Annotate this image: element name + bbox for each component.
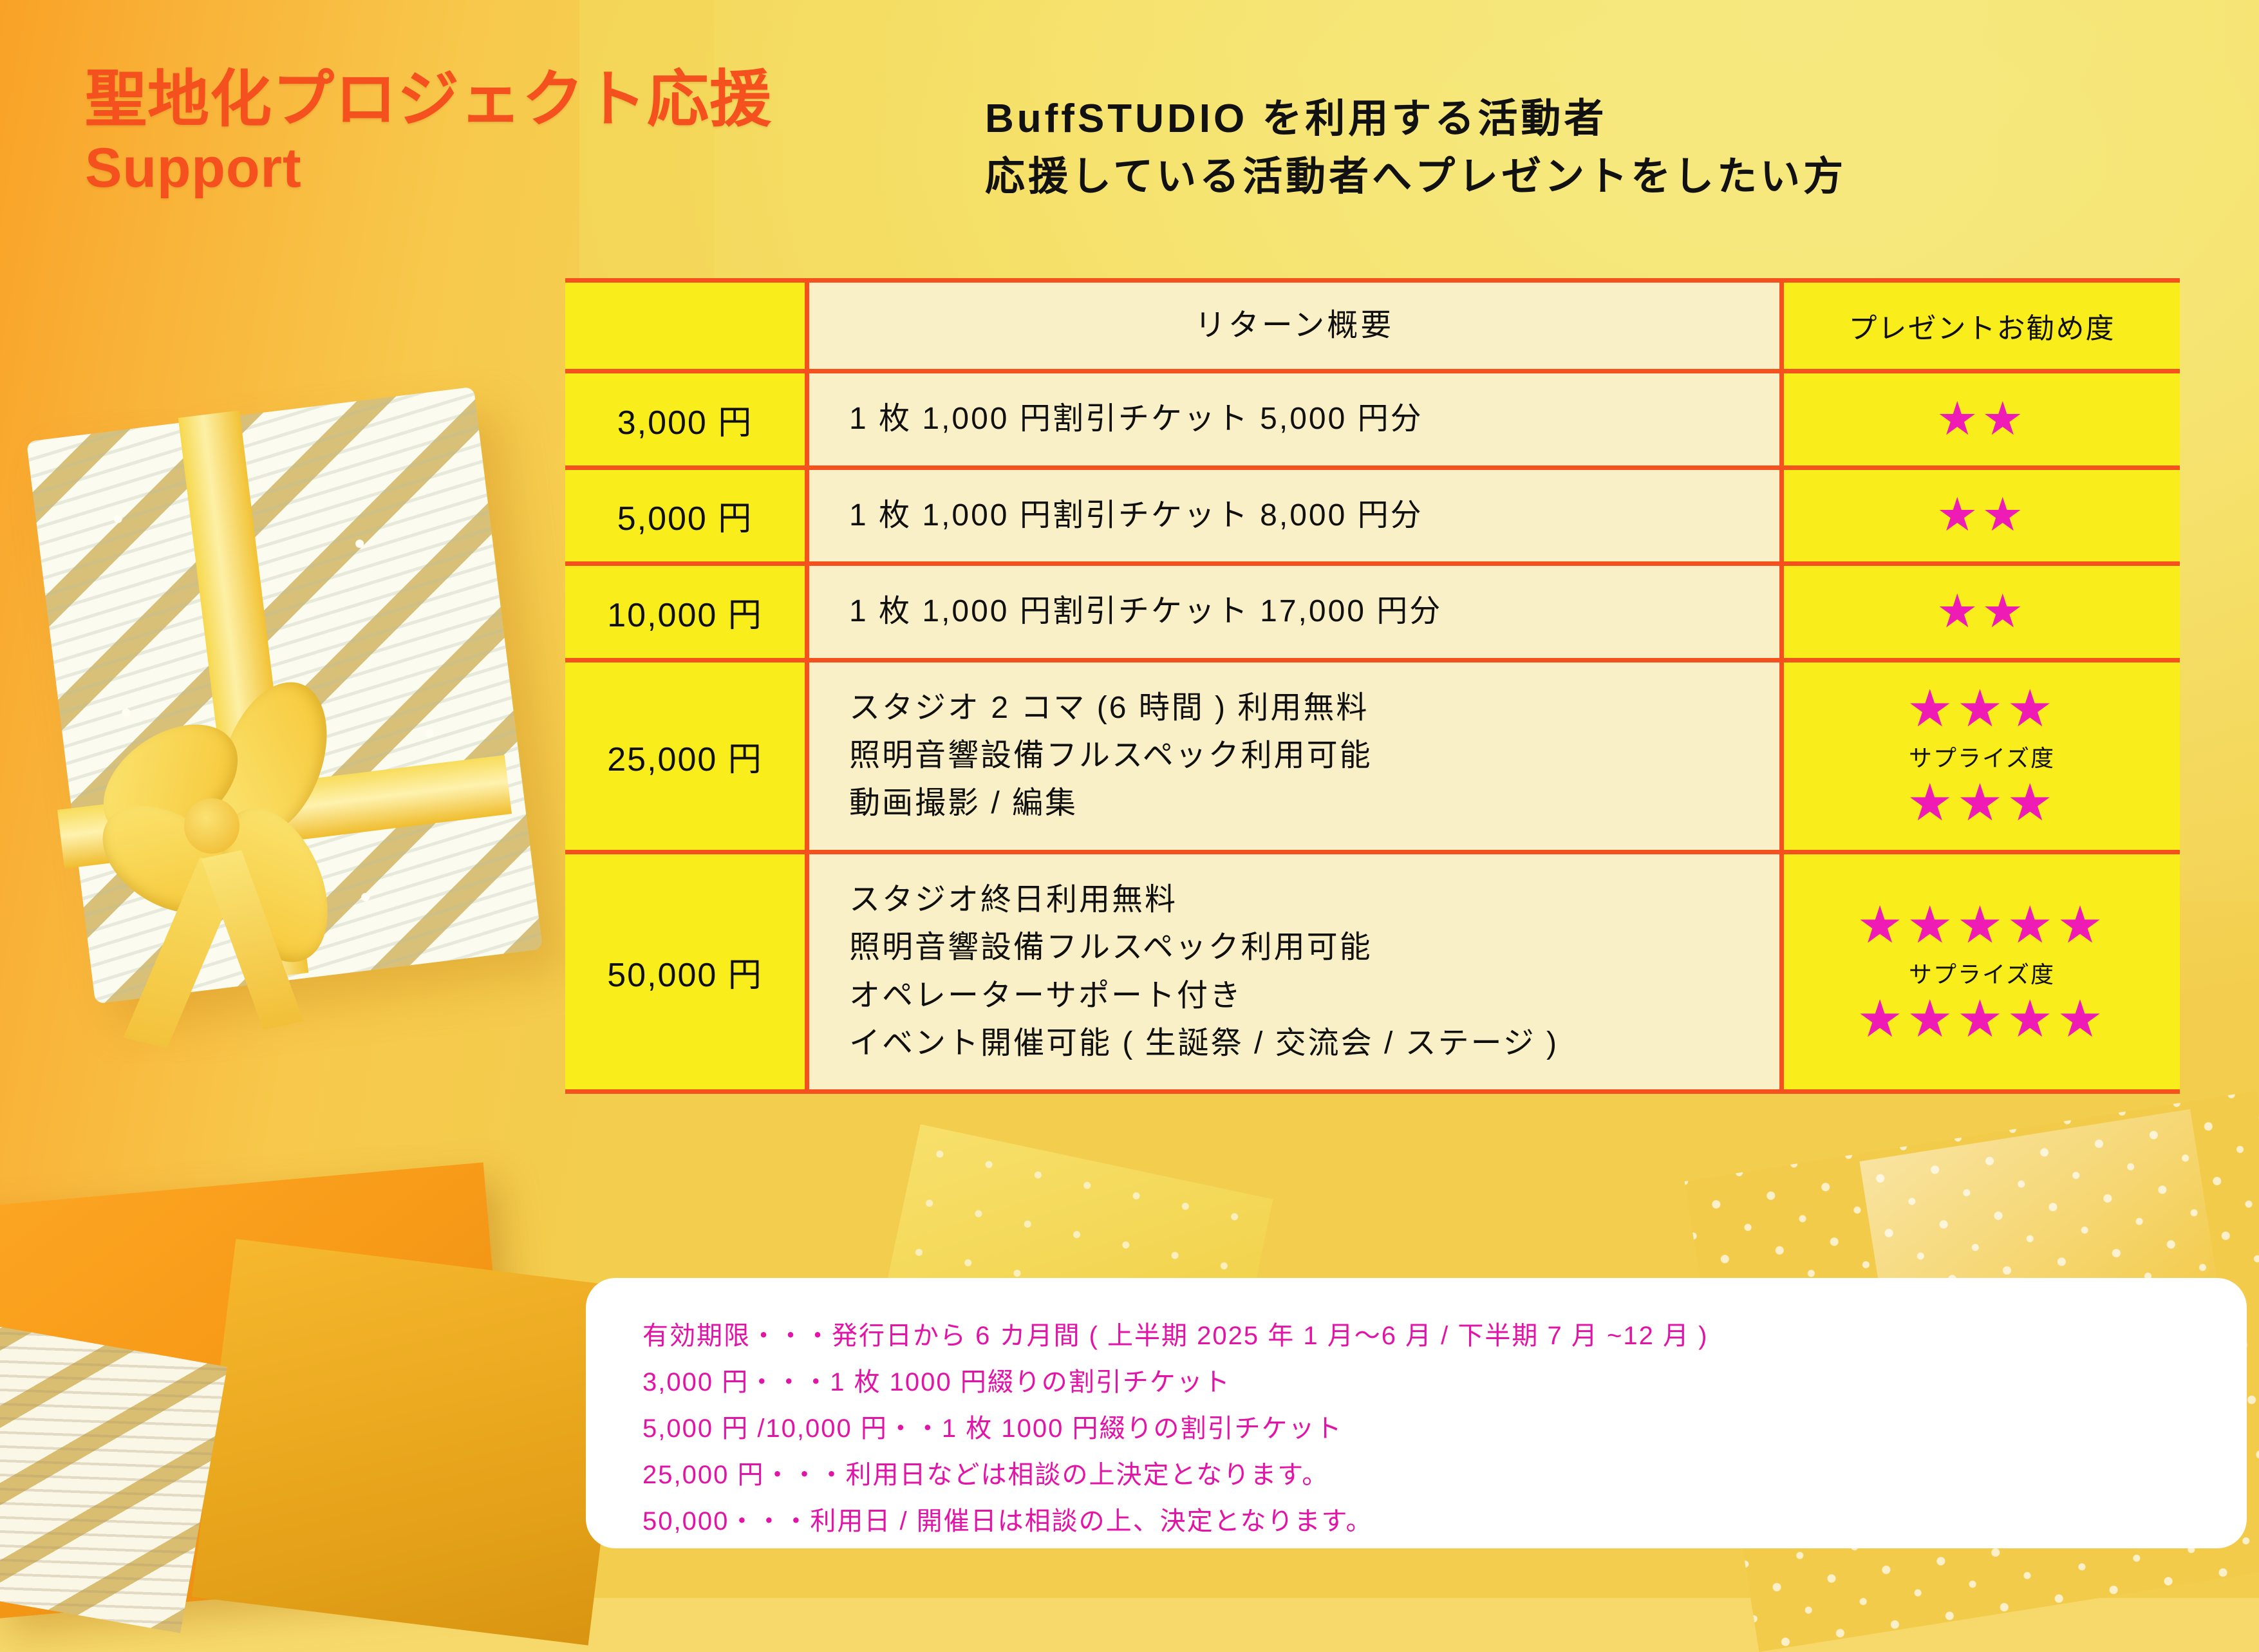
page-subtitle: BuffSTUDIO を利用する活動者 応援している活動者へプレゼントをしたい方: [985, 90, 2208, 206]
note-line: 5,000 円 /10,000 円・・1 枚 1000 円綴りの割引チケット: [642, 1405, 2247, 1452]
row-description: 1 枚 1,000 円割引チケット 5,000 円分: [805, 373, 1784, 465]
note-line: 50,000・・・利用日 / 開催日は相談の上、決定となります。: [642, 1498, 2247, 1544]
star-rating-top: ★★★: [1907, 682, 2057, 736]
description-line: 1 枚 1,000 円割引チケット 5,000 円分: [849, 395, 1423, 443]
row-recommendation: ★★: [1784, 470, 2180, 561]
page-subtitle-line2: 応援している活動者へプレゼントをしたい方: [985, 148, 2208, 206]
star-rating-top: ★★: [1936, 395, 2027, 444]
row-price: 25,000 円: [565, 662, 805, 850]
table-row: 3,000 円 1 枚 1,000 円割引チケット 5,000 円分 ★★: [565, 373, 2180, 469]
page-subtitle-line1: BuffSTUDIO を利用する活動者: [985, 90, 2208, 148]
row-description: スタジオ終日利用無料 照明音響設備フルスペック利用可能 オペレーターサポート付き…: [805, 854, 1784, 1090]
notes-panel: 有効期限・・・発行日から 6 カ月間 ( 上半期 2025 年 1 月～6 月 …: [586, 1278, 2247, 1548]
description-line: 照明音響設備フルスペック利用可能: [849, 924, 1559, 971]
table-row: 25,000 円 スタジオ 2 コマ (6 時間 ) 利用無料 照明音響設備フル…: [565, 662, 2180, 854]
surprise-level-label: サプライズ度: [1909, 956, 2055, 990]
table-row: 10,000 円 1 枚 1,000 円割引チケット 17,000 円分 ★★: [565, 566, 2180, 662]
description-line: 動画撮影 / 編集: [849, 780, 1373, 827]
row-recommendation: ★★: [1784, 566, 2180, 657]
note-line: 25,000 円・・・利用日などは相談の上決定となります。: [642, 1452, 2247, 1498]
row-price: 5,000 円: [565, 470, 805, 561]
star-rating-bottom: ★★★★★: [1857, 992, 2107, 1046]
header-recommendation-cell: プレゼントお勧め度: [1784, 283, 2180, 369]
star-rating-bottom: ★★★: [1907, 776, 2057, 830]
row-description: 1 枚 1,000 円割引チケット 8,000 円分: [805, 470, 1784, 561]
description-line: オペレーターサポート付き: [849, 972, 1559, 1020]
table-row: 50,000 円 スタジオ終日利用無料 照明音響設備フルスペック利用可能 オペレ…: [565, 854, 2180, 1090]
description-line: 照明音響設備フルスペック利用可能: [849, 732, 1373, 780]
row-description: スタジオ 2 コマ (6 時間 ) 利用無料 照明音響設備フルスペック利用可能 …: [805, 662, 1784, 850]
row-recommendation: ★★: [1784, 373, 2180, 465]
support-tiers-table: リターン概要 プレゼントお勧め度 3,000 円 1 枚 1,000 円割引チケ…: [565, 278, 2180, 1094]
row-description: 1 枚 1,000 円割引チケット 17,000 円分: [805, 566, 1784, 657]
description-line: スタジオ 2 コマ (6 時間 ) 利用無料: [849, 684, 1373, 732]
page-title-line1: 聖地化プロジェクト応援: [85, 65, 772, 134]
description-line: イベント開催可能 ( 生誕祭 / 交流会 / ステージ ): [849, 1020, 1559, 1067]
description-line: 1 枚 1,000 円割引チケット 17,000 円分: [849, 588, 1442, 635]
note-line: 有効期限・・・発行日から 6 カ月間 ( 上半期 2025 年 1 月～6 月 …: [642, 1313, 2247, 1359]
description-line: スタジオ終日利用無料: [849, 876, 1559, 924]
row-price: 3,000 円: [565, 373, 805, 465]
star-rating-top: ★★★★★: [1857, 898, 2107, 952]
page-title: 聖地化プロジェクト応援 Support: [85, 63, 935, 202]
table-row: 5,000 円 1 枚 1,000 円割引チケット 8,000 円分 ★★: [565, 470, 2180, 566]
header-return-summary-cell: リターン概要: [805, 283, 1784, 369]
star-rating-top: ★★: [1936, 491, 2027, 540]
star-rating-top: ★★: [1936, 588, 2027, 637]
row-recommendation: ★★★ サプライズ度 ★★★: [1784, 662, 2180, 850]
note-line: 3,000 円・・・1 枚 1000 円綴りの割引チケット: [642, 1359, 2247, 1405]
table-header-row: リターン概要 プレゼントお勧め度: [565, 283, 2180, 373]
row-price: 50,000 円: [565, 854, 805, 1090]
row-price: 10,000 円: [565, 566, 805, 657]
page-title-line2: Support: [85, 136, 935, 201]
description-line: 1 枚 1,000 円割引チケット 8,000 円分: [849, 492, 1423, 540]
row-recommendation: ★★★★★ サプライズ度 ★★★★★: [1784, 854, 2180, 1090]
surprise-level-label: サプライズ度: [1909, 740, 2055, 773]
header-price-cell: [565, 283, 805, 369]
gift-bow-knot: [184, 798, 239, 854]
gift-box-orange-small-photo: [192, 1239, 632, 1645]
